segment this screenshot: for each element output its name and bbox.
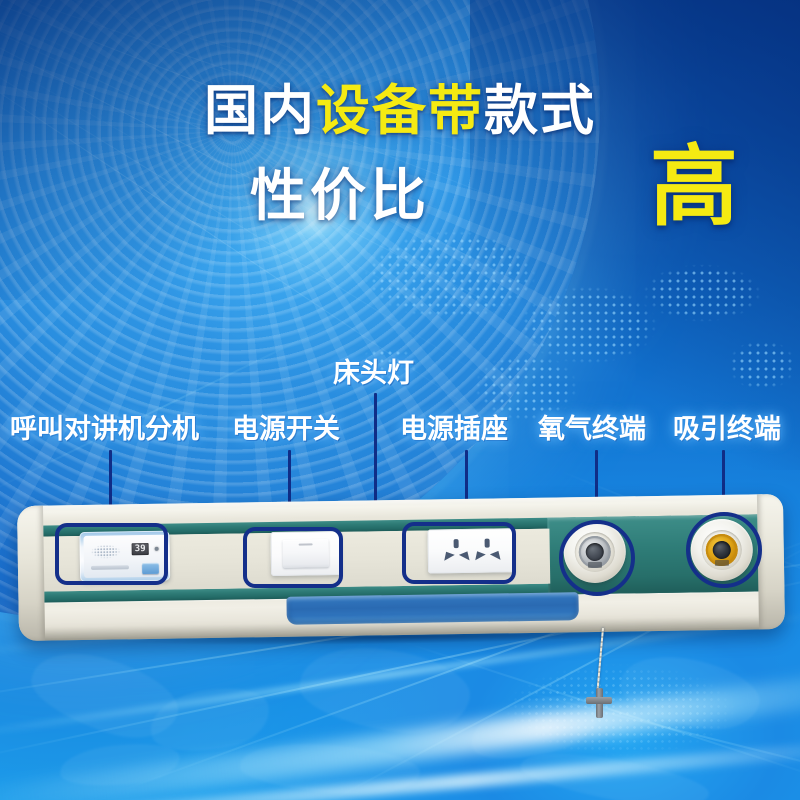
panel-end-cap-left bbox=[17, 506, 45, 641]
callout-label-oxygen: 氧气终端 bbox=[538, 416, 646, 443]
bed-lamp-diffuser bbox=[286, 592, 578, 625]
highlight-circle-oxygen bbox=[559, 520, 635, 596]
headline-part-2: 设备带 bbox=[316, 84, 484, 138]
callout-label-suction: 吸引终端 bbox=[673, 416, 781, 443]
panel-end-cap-right bbox=[757, 494, 785, 629]
headline-emphasis: 高 bbox=[650, 143, 738, 231]
highlight-box-power-switch bbox=[243, 527, 343, 588]
headline-line-2: 性价比 bbox=[60, 168, 620, 224]
callout-label-power-socket: 电源插座 bbox=[400, 416, 508, 443]
highlight-circle-suction bbox=[686, 512, 762, 588]
pull-cord-weight-icon[interactable] bbox=[586, 688, 612, 718]
callout-label-bed-lamp: 床头灯 bbox=[333, 360, 414, 387]
callout-label-intercom: 呼叫对讲机分机 bbox=[10, 416, 199, 443]
cord-weight-horizontal bbox=[586, 697, 612, 704]
headline-line-1: 国内设备带款式 bbox=[0, 84, 800, 138]
highlight-box-intercom bbox=[55, 523, 168, 585]
headline-part-3: 款式 bbox=[484, 84, 596, 138]
headline-part-1: 国内 bbox=[204, 84, 316, 138]
highlight-box-power-socket bbox=[402, 522, 516, 584]
callout-label-power-switch: 电源开关 bbox=[232, 416, 340, 443]
